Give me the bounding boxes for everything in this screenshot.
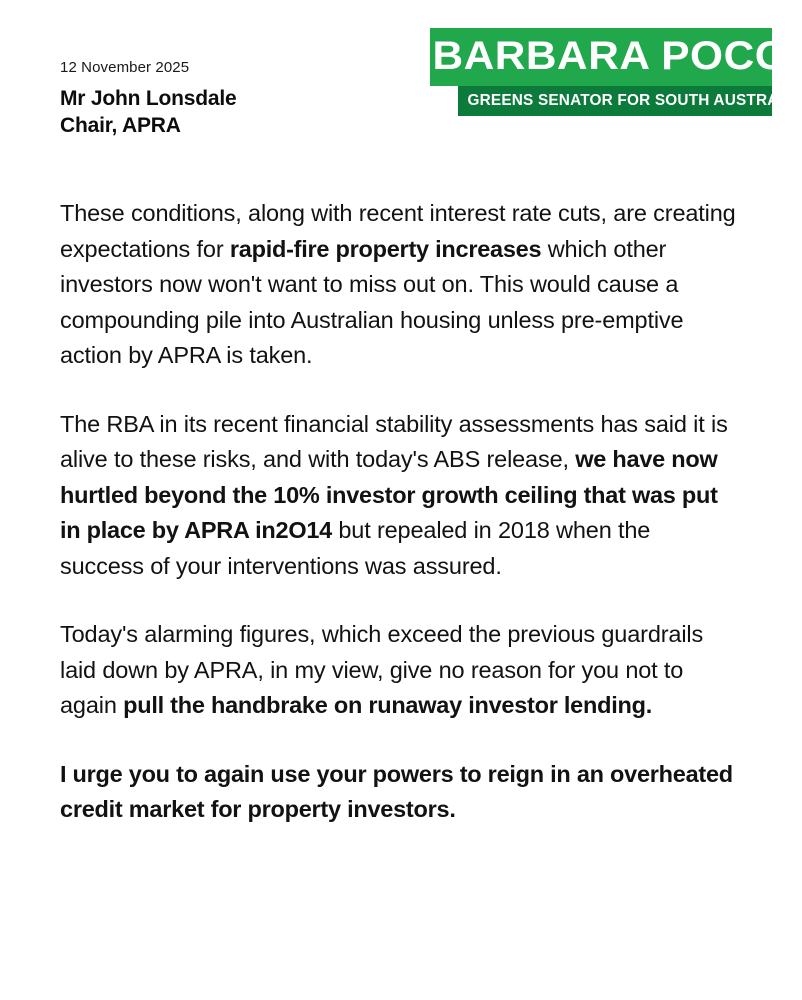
para-2: The RBA in its recent financial stabilit… <box>60 407 736 585</box>
brand-name: BARBARA POCOCK <box>432 35 769 77</box>
addressee-title: Chair, APRA <box>60 112 390 139</box>
para-3-run-1: pull the handbrake on runaway investor l… <box>123 692 652 718</box>
para-1: These conditions, along with recent inte… <box>60 196 736 374</box>
document-page: 12 November 2025 Mr John Lonsdale Chair,… <box>0 0 802 1000</box>
letterhead: 12 November 2025 Mr John Lonsdale Chair,… <box>0 0 802 170</box>
brand-subtitle: GREENS SENATOR FOR SOUTH AUSTRALIA <box>467 91 762 110</box>
letter-meta-block: 12 November 2025 Mr John Lonsdale Chair,… <box>60 58 390 139</box>
letter-date: 12 November 2025 <box>60 58 390 77</box>
brand-subtitle-bar: GREENS SENATOR FOR SOUTH AUSTRALIA <box>458 86 772 116</box>
addressee-block: Mr John Lonsdale Chair, APRA <box>60 85 390 139</box>
letter-body: These conditions, along with recent inte… <box>60 196 736 828</box>
para-4-run-0: I urge you to again use your powers to r… <box>60 761 733 823</box>
addressee-name: Mr John Lonsdale <box>60 85 390 112</box>
para-4: I urge you to again use your powers to r… <box>60 757 736 828</box>
brand-logo: BARBARA POCOCK GREENS SENATOR FOR SOUTH … <box>430 28 772 116</box>
para-1-run-1: rapid-fire property increases <box>230 236 541 262</box>
brand-name-bar: BARBARA POCOCK <box>430 28 772 86</box>
para-3: Today's alarming figures, which exceed t… <box>60 617 736 724</box>
